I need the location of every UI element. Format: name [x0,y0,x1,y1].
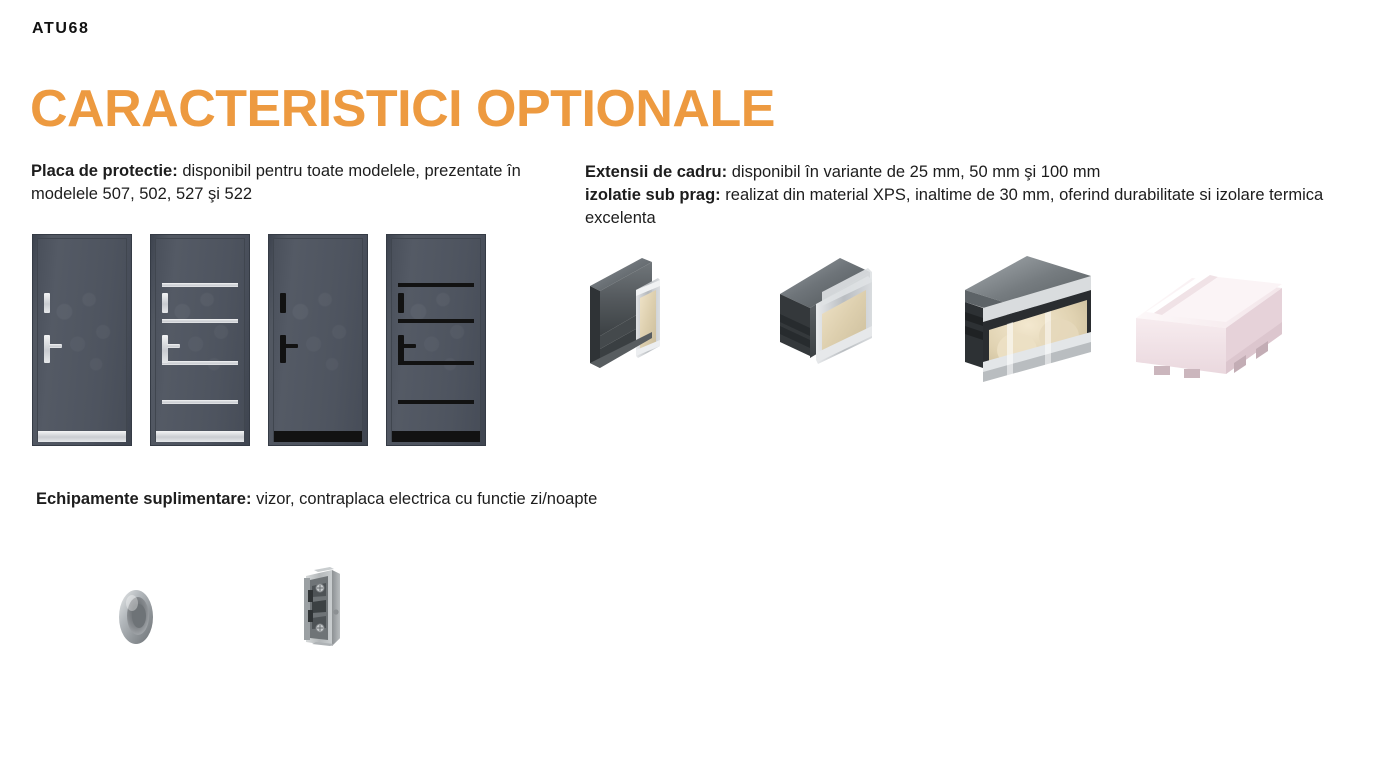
lock-plate-icon [280,293,286,313]
lock-plate-icon [398,293,404,313]
door-handle-icon [280,335,286,363]
door-image-502 [150,234,250,446]
door-leaf [37,238,127,442]
door-handle-icon [398,335,404,363]
frame-extension-100mm-image [955,250,1095,385]
kick-plate [156,431,244,442]
extra-equipment-text: vizor, contraplaca electrica cu functie … [251,490,597,508]
decor-strip [162,400,238,404]
frame-extensions-description: Extensii de cadru: disponibil în variant… [585,161,1355,230]
door-image-527 [268,234,368,446]
decor-strip [162,319,238,323]
door-image-507 [32,234,132,446]
model-code-label: ATU68 [32,21,90,37]
decor-strip [398,361,474,365]
decor-strip [398,400,474,404]
door-viewer-peephole-image [112,585,160,649]
extra-equipment-description: Echipamente suplimentare: vizor, contrap… [36,488,796,511]
lock-plate-icon [44,293,50,313]
kick-plate [38,431,126,442]
decor-strip [398,283,474,287]
door-handle-icon [162,335,168,363]
door-leaf [273,238,363,442]
xps-threshold-insulation-image [1130,262,1290,382]
protection-plate-label: Placa de protectie: [31,162,178,180]
door-leaf [155,238,245,442]
threshold-insulation-label: izolatie sub prag: [585,186,721,204]
frame-extension-25mm-image [580,250,680,380]
door-image-522 [386,234,486,446]
decor-strip [398,319,474,323]
door-handle-icon [44,335,50,363]
extra-equipment-label: Echipamente suplimentare: [36,490,251,508]
page-title: CARACTERISTICI OPTIONALE [30,82,775,137]
page-root: ATU68 CARACTERISTICI OPTIONALE Placa de … [0,0,1382,762]
frame-extensions-label: Extensii de cadru: [585,163,727,181]
lock-plate-icon [162,293,168,313]
door-leaf [391,238,481,442]
decor-strip [162,361,238,365]
kick-plate [274,431,362,442]
frame-extension-50mm-image [772,252,882,377]
electric-strike-plate-image [292,566,348,652]
protection-plate-description: Placa de protectie: disponibil pentru to… [31,160,571,206]
kick-plate [392,431,480,442]
frame-extensions-text: disponibil în variante de 25 mm, 50 mm ş… [727,163,1100,181]
decor-strip [162,283,238,287]
